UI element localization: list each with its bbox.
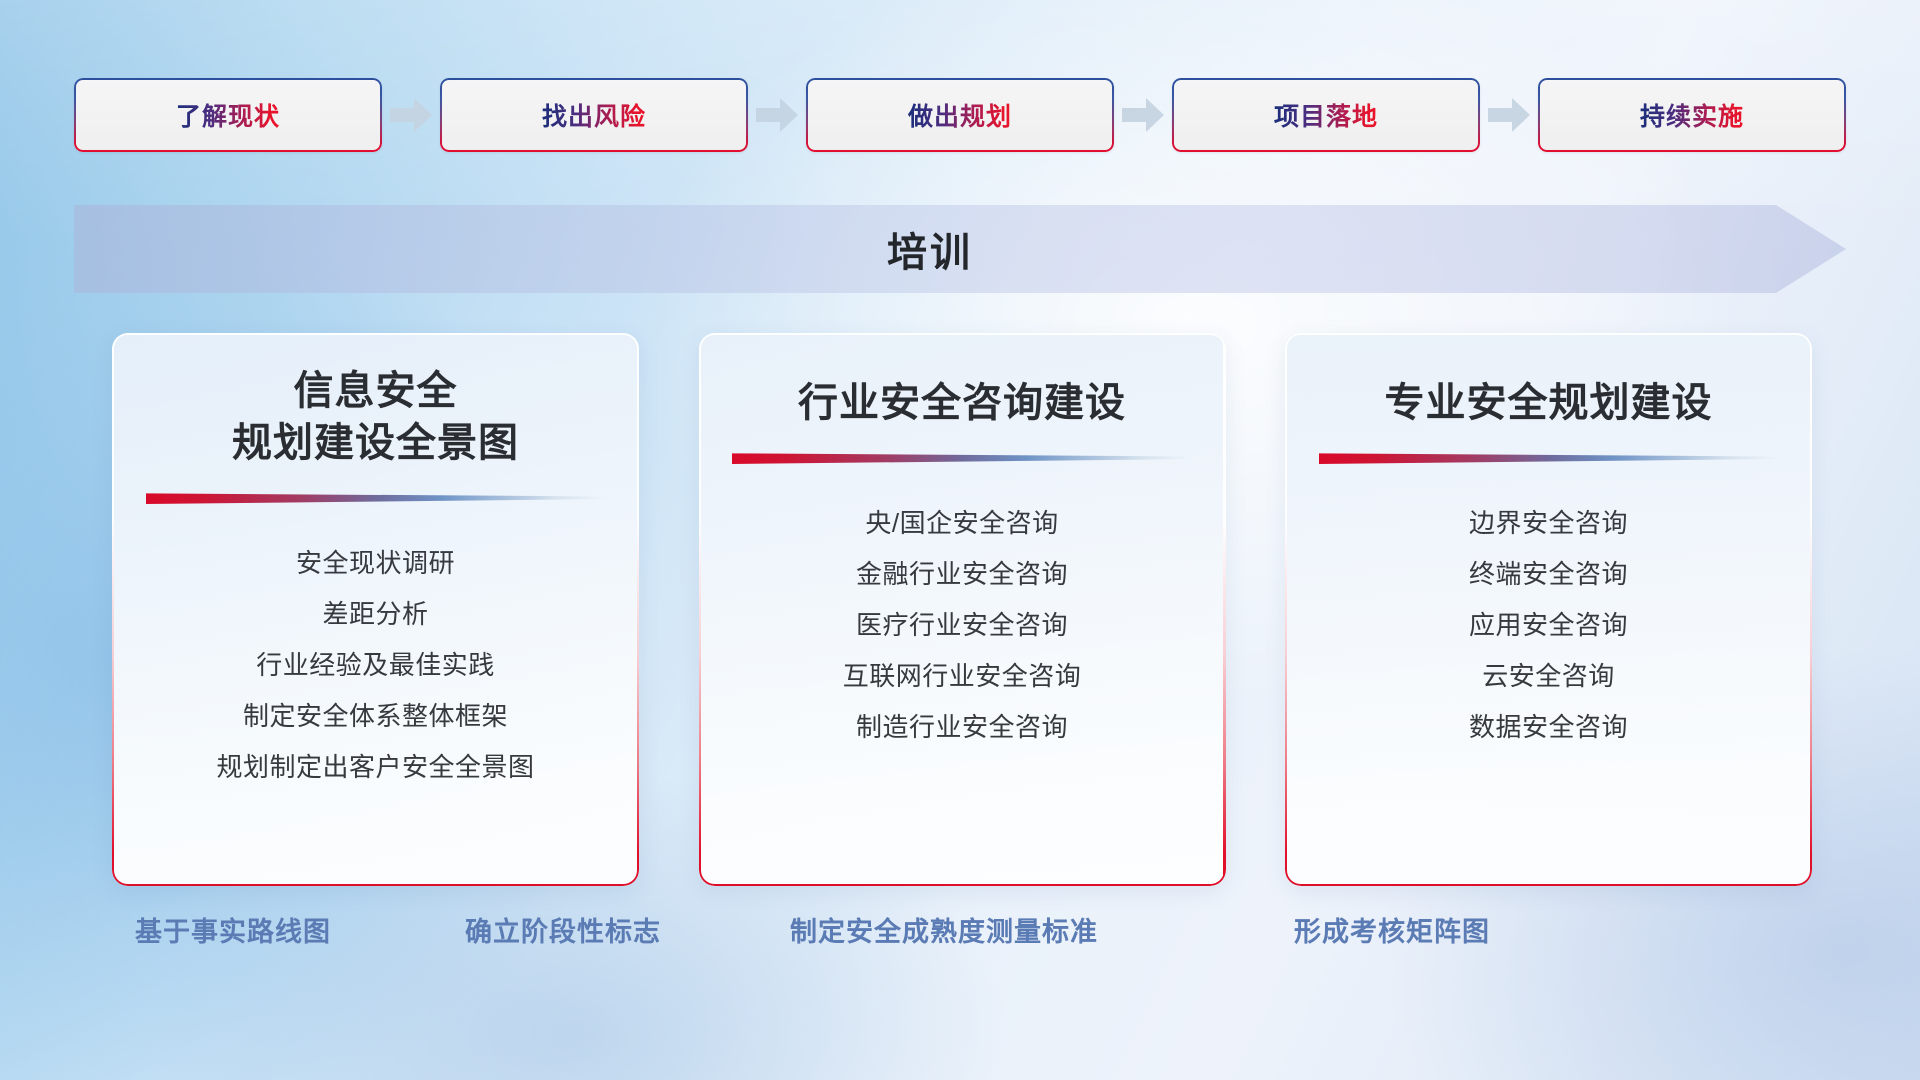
list-item: 数据安全咨询 bbox=[1469, 702, 1628, 753]
process-step-row: 了解现状找出风险做出规划项目落地持续实施 bbox=[74, 78, 1846, 152]
footnote-label-1: 基于事实路线图 bbox=[135, 910, 331, 949]
card-item-list: 央/国企安全咨询金融行业安全咨询医疗行业安全咨询互联网行业安全咨询制造行业安全咨… bbox=[725, 498, 1200, 753]
step-label: 了解现状 bbox=[176, 97, 280, 133]
list-item: 边界安全咨询 bbox=[1469, 498, 1628, 549]
footnote-label-3: 制定安全成熟度测量标准 bbox=[790, 910, 1098, 949]
card-row: 信息安全规划建设全景图安全现状调研差距分析行业经验及最佳实践制定安全体系整体框架… bbox=[112, 333, 1812, 886]
step-label: 找出风险 bbox=[542, 97, 646, 133]
service-card-1[interactable]: 信息安全规划建设全景图安全现状调研差距分析行业经验及最佳实践制定安全体系整体框架… bbox=[112, 333, 639, 886]
arrow-right-icon bbox=[1122, 98, 1164, 132]
step-box-3[interactable]: 做出规划 bbox=[806, 78, 1114, 152]
card-divider bbox=[146, 491, 606, 504]
list-item: 制造行业安全咨询 bbox=[856, 702, 1068, 753]
card-title: 行业安全咨询建设 bbox=[798, 377, 1126, 429]
card-item-list: 安全现状调研差距分析行业经验及最佳实践制定安全体系整体框架规划制定出客户安全全景… bbox=[138, 538, 613, 793]
arrow-right-icon bbox=[756, 98, 798, 132]
service-card-3[interactable]: 专业安全规划建设边界安全咨询终端安全咨询应用安全咨询云安全咨询数据安全咨询 bbox=[1285, 333, 1812, 886]
step-box-4[interactable]: 项目落地 bbox=[1172, 78, 1480, 152]
banner-title: 培训 bbox=[74, 205, 1846, 293]
card-title: 信息安全规划建设全景图 bbox=[232, 365, 519, 469]
list-item: 云安全咨询 bbox=[1482, 651, 1615, 702]
card-item-list: 边界安全咨询终端安全咨询应用安全咨询云安全咨询数据安全咨询 bbox=[1311, 498, 1786, 753]
list-item: 金融行业安全咨询 bbox=[856, 549, 1068, 600]
footnote-label-2: 确立阶段性标志 bbox=[465, 910, 661, 949]
step-label: 项目落地 bbox=[1274, 97, 1378, 133]
list-item: 央/国企安全咨询 bbox=[865, 498, 1058, 549]
list-item: 终端安全咨询 bbox=[1469, 549, 1628, 600]
step-box-2[interactable]: 找出风险 bbox=[440, 78, 748, 152]
arrow-right-icon bbox=[1488, 98, 1530, 132]
list-item: 应用安全咨询 bbox=[1469, 600, 1628, 651]
list-item: 行业经验及最佳实践 bbox=[256, 640, 495, 691]
card-title-line: 规划建设全景图 bbox=[232, 417, 519, 469]
list-item: 医疗行业安全咨询 bbox=[856, 600, 1068, 651]
step-box-1[interactable]: 了解现状 bbox=[74, 78, 382, 152]
service-card-2[interactable]: 行业安全咨询建设央/国企安全咨询金融行业安全咨询医疗行业安全咨询互联网行业安全咨… bbox=[699, 333, 1226, 886]
card-title-line: 信息安全 bbox=[232, 365, 519, 417]
list-item: 规划制定出客户安全全景图 bbox=[216, 742, 534, 793]
list-item: 制定安全体系整体框架 bbox=[243, 691, 508, 742]
card-title: 专业安全规划建设 bbox=[1385, 377, 1713, 429]
training-banner: 培训 bbox=[74, 205, 1846, 293]
list-item: 安全现状调研 bbox=[296, 538, 455, 589]
step-box-5[interactable]: 持续实施 bbox=[1538, 78, 1846, 152]
card-title-line: 专业安全规划建设 bbox=[1385, 377, 1713, 429]
footnote-row: 基于事实路线图确立阶段性标志制定安全成熟度测量标准形成考核矩阵图 bbox=[0, 910, 1920, 966]
step-label: 持续实施 bbox=[1640, 97, 1744, 133]
arrow-right-icon bbox=[390, 98, 432, 132]
card-divider bbox=[732, 451, 1192, 464]
card-divider bbox=[1319, 451, 1779, 464]
list-item: 差距分析 bbox=[322, 589, 428, 640]
step-label: 做出规划 bbox=[908, 97, 1012, 133]
footnote-label-4: 形成考核矩阵图 bbox=[1294, 910, 1490, 949]
list-item: 互联网行业安全咨询 bbox=[843, 651, 1082, 702]
card-title-line: 行业安全咨询建设 bbox=[798, 377, 1126, 429]
